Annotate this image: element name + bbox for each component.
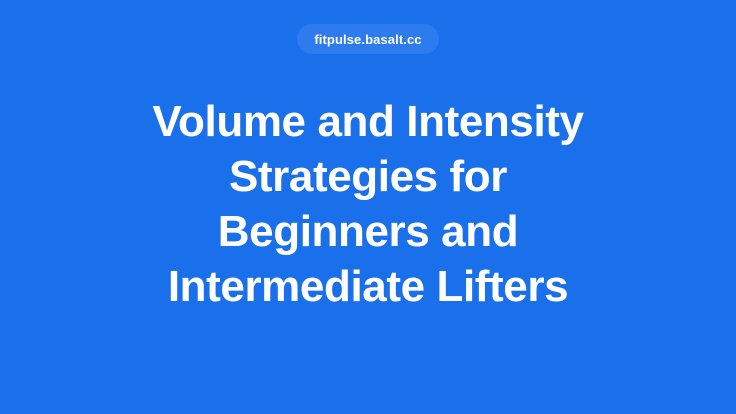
page-title: Volume and Intensity Strategies for Begi… xyxy=(48,94,688,314)
badge-row: fitpulse.basalt.cc xyxy=(0,24,736,54)
title-line-2: Strategies for xyxy=(48,149,688,204)
title-line-1: Volume and Intensity xyxy=(48,94,688,149)
title-block: Volume and Intensity Strategies for Begi… xyxy=(48,94,688,314)
site-domain-badge: fitpulse.basalt.cc xyxy=(297,24,438,54)
title-line-3: Beginners and xyxy=(48,204,688,259)
article-cover: fitpulse.basalt.cc Volume and Intensity … xyxy=(0,0,736,414)
title-line-4: Intermediate Lifters xyxy=(48,259,688,314)
